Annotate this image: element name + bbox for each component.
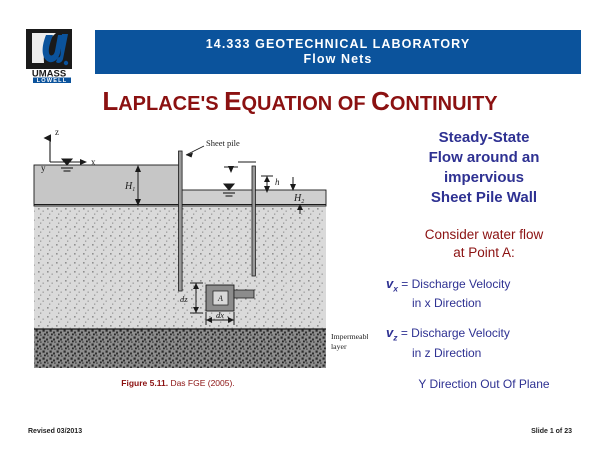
page-title: LAPLACE'S EQUATION OF CONTINUITY bbox=[0, 86, 600, 117]
sheet-pile-label: Sheet pile bbox=[206, 138, 240, 148]
title-part: C bbox=[371, 86, 390, 116]
umass-lowell-logo: UMASS LOWELL bbox=[22, 29, 84, 83]
impermeable-layer-label-line1: Impermeable bbox=[331, 332, 368, 341]
title-part: E bbox=[224, 86, 241, 116]
heading-line: impervious bbox=[372, 168, 596, 188]
banner-title-line1: 14.333 GEOTECHNICAL LABORATORY bbox=[206, 37, 471, 52]
dimension-label-dx: dx bbox=[216, 310, 224, 320]
consider-note: Consider water flow at Point A: bbox=[372, 226, 596, 262]
header-banner: 14.333 GEOTECHNICAL LABORATORY Flow Nets bbox=[95, 30, 581, 74]
velocity-z-definition: vz = Discharge Velocity in z Direction bbox=[372, 325, 596, 360]
velocity-z-text: = Discharge Velocity bbox=[397, 326, 509, 340]
axis-label-z: z bbox=[55, 127, 59, 137]
sheet-pile-wall bbox=[179, 151, 183, 291]
level-tick-marks bbox=[224, 166, 296, 191]
impermeable-layer-label-line2: layer bbox=[331, 342, 347, 351]
footer-slide-number: Slide 1 of 23 bbox=[531, 428, 572, 435]
velocity-x-second-line: in x Direction bbox=[386, 296, 596, 311]
velocity-x-definition: vx = Discharge Velocity in x Direction bbox=[372, 276, 596, 311]
figure-caption-bold: Figure 5.11. bbox=[121, 378, 168, 388]
heading-line: Steady-State bbox=[372, 128, 596, 148]
figure-caption-rest: Das FGE (2005). bbox=[168, 378, 235, 388]
dimension-label-dz: dz bbox=[180, 294, 188, 304]
y-direction-note: Y Direction Out Of Plane bbox=[372, 377, 596, 391]
piezometer-riser bbox=[252, 166, 255, 276]
logo-text-lowell: LOWELL bbox=[37, 78, 68, 83]
sheet-pile-diagram: z x y Sheet pile H1 bbox=[28, 126, 368, 374]
heading-line: Sheet Pile Wall bbox=[372, 188, 596, 208]
velocity-x-text: = Discharge Velocity bbox=[398, 277, 510, 291]
title-part: APLACE'S bbox=[118, 93, 224, 115]
dimension-label-h: h bbox=[275, 177, 280, 187]
subject-heading: Steady-State Flow around an impervious S… bbox=[372, 128, 596, 208]
note-line: at Point A: bbox=[372, 244, 596, 262]
title-part: ONTINUITY bbox=[390, 93, 498, 115]
velocity-z-second-line: in z Direction bbox=[386, 346, 596, 361]
element-A-label: A bbox=[217, 294, 223, 303]
figure-caption: Figure 5.11. Das FGE (2005). bbox=[28, 378, 328, 388]
slide-header: 14.333 GEOTECHNICAL LABORATORY Flow Nets bbox=[0, 26, 600, 84]
right-text-column: Steady-State Flow around an impervious S… bbox=[372, 128, 596, 391]
note-line: Consider water flow bbox=[372, 226, 596, 244]
title-part: L bbox=[102, 86, 118, 116]
title-part: QUATION OF bbox=[241, 93, 371, 115]
banner-title-line2: Flow Nets bbox=[304, 52, 373, 67]
footer-revised: Revised 03/2013 bbox=[28, 428, 82, 435]
axis-label-y: y bbox=[41, 163, 46, 173]
heading-line: Flow around an bbox=[372, 148, 596, 168]
axis-label-x: x bbox=[91, 157, 96, 167]
